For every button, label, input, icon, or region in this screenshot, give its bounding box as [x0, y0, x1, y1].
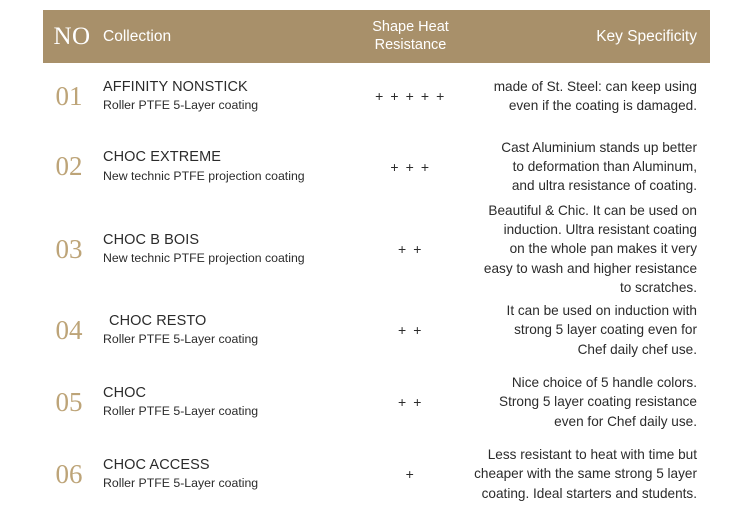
description-line: It can be used on induction with	[468, 301, 697, 320]
row-description: Less resistant to heat with time but che…	[468, 445, 710, 503]
collection-subtitle: Roller PTFE 5-Layer coating	[103, 475, 353, 492]
description-line: on the whole pan makes it very	[468, 239, 697, 258]
collection-name: AFFINITY NONSTICK	[103, 78, 353, 98]
row-number: 01	[43, 83, 95, 110]
collection-subtitle: Roller PTFE 5-Layer coating	[103, 403, 353, 420]
table-row: 06 CHOC ACCESS Roller PTFE 5-Layer coati…	[43, 438, 710, 510]
collection-subtitle: Roller PTFE 5-Layer coating	[103, 97, 353, 114]
table-body: 01 AFFINITY NONSTICK Roller PTFE 5-Layer…	[43, 63, 710, 510]
row-description: It can be used on induction with strong …	[468, 301, 710, 359]
description-line: Beautiful & Chic. It can be used on	[468, 201, 697, 220]
row-description: Nice choice of 5 handle colors. Strong 5…	[468, 373, 710, 431]
description-line: coating. Ideal starters and students.	[468, 484, 697, 503]
comparison-table: NO Collection Shape Heat Resistance Key …	[0, 0, 750, 518]
row-rating: + + + + +	[353, 88, 468, 104]
description-line: cheaper with the same strong 5 layer	[468, 464, 697, 483]
row-number: 04	[43, 317, 95, 344]
table-row: 05 CHOC Roller PTFE 5-Layer coating + + …	[43, 366, 710, 438]
description-line: strong 5 layer coating even for	[468, 320, 697, 339]
description-line: made of St. Steel: can keep using	[468, 77, 697, 96]
header-cell-shape-heat-resistance: Shape Heat Resistance	[353, 19, 468, 54]
description-line: Nice choice of 5 handle colors.	[468, 373, 697, 392]
row-rating: + +	[353, 322, 468, 338]
collection-name: CHOC	[103, 384, 353, 404]
header-shape-line1: Shape Heat	[372, 19, 449, 35]
collection-name: CHOC ACCESS	[103, 456, 353, 476]
description-line: Strong 5 layer coating resistance	[468, 392, 697, 411]
description-line: induction. Ultra resistant coating	[468, 220, 697, 239]
header-cell-no: NO	[43, 23, 95, 51]
header-shape-line2: Resistance	[375, 37, 447, 53]
header-cell-collection: Collection	[95, 28, 353, 46]
row-collection: AFFINITY NONSTICK Roller PTFE 5-Layer co…	[95, 78, 353, 115]
collection-name: CHOC B BOIS	[103, 231, 353, 251]
collection-subtitle: New technic PTFE projection coating	[103, 168, 353, 185]
description-line: Chef daily chef use.	[468, 340, 697, 359]
row-collection: CHOC EXTREME New technic PTFE projection…	[95, 148, 353, 185]
row-number: 06	[43, 461, 95, 488]
table-header-row: NO Collection Shape Heat Resistance Key …	[43, 10, 710, 63]
description-line: to scratches.	[468, 278, 697, 297]
description-line: Cast Aluminium stands up better	[468, 138, 697, 157]
table-row: 03 CHOC B BOIS New technic PTFE projecti…	[43, 204, 710, 294]
row-collection: CHOC Roller PTFE 5-Layer coating	[95, 384, 353, 421]
description-line: to deformation than Aluminum,	[468, 157, 697, 176]
description-line: Less resistant to heat with time but	[468, 445, 697, 464]
description-line: even if the coating is damaged.	[468, 96, 697, 115]
row-number: 02	[43, 153, 95, 180]
row-rating: + + +	[353, 159, 468, 175]
row-rating: +	[353, 466, 468, 482]
row-rating: + +	[353, 394, 468, 410]
row-number: 03	[43, 236, 95, 263]
row-number: 05	[43, 389, 95, 416]
collection-subtitle: Roller PTFE 5-Layer coating	[103, 331, 353, 348]
header-cell-key-specificity: Key Specificity	[468, 28, 710, 46]
table-row: 04 CHOC RESTO Roller PTFE 5-Layer coatin…	[43, 294, 710, 366]
row-description: Cast Aluminium stands up better to defor…	[468, 138, 710, 196]
row-description: made of St. Steel: can keep using even i…	[468, 77, 710, 116]
description-line: and ultra resistance of coating.	[468, 176, 697, 195]
table-row: 01 AFFINITY NONSTICK Roller PTFE 5-Layer…	[43, 63, 710, 129]
collection-name: CHOC RESTO	[103, 312, 353, 332]
row-description: Beautiful & Chic. It can be used on indu…	[468, 201, 710, 297]
row-collection: CHOC RESTO Roller PTFE 5-Layer coating	[95, 312, 353, 349]
row-collection: CHOC B BOIS New technic PTFE projection …	[95, 231, 353, 268]
row-rating: + +	[353, 241, 468, 257]
row-collection: CHOC ACCESS Roller PTFE 5-Layer coating	[95, 456, 353, 493]
collection-name: CHOC EXTREME	[103, 148, 353, 168]
description-line: easy to wash and higher resistance	[468, 259, 697, 278]
collection-subtitle: New technic PTFE projection coating	[103, 250, 353, 267]
description-line: even for Chef daily use.	[468, 412, 697, 431]
table-row: 02 CHOC EXTREME New technic PTFE project…	[43, 129, 710, 204]
